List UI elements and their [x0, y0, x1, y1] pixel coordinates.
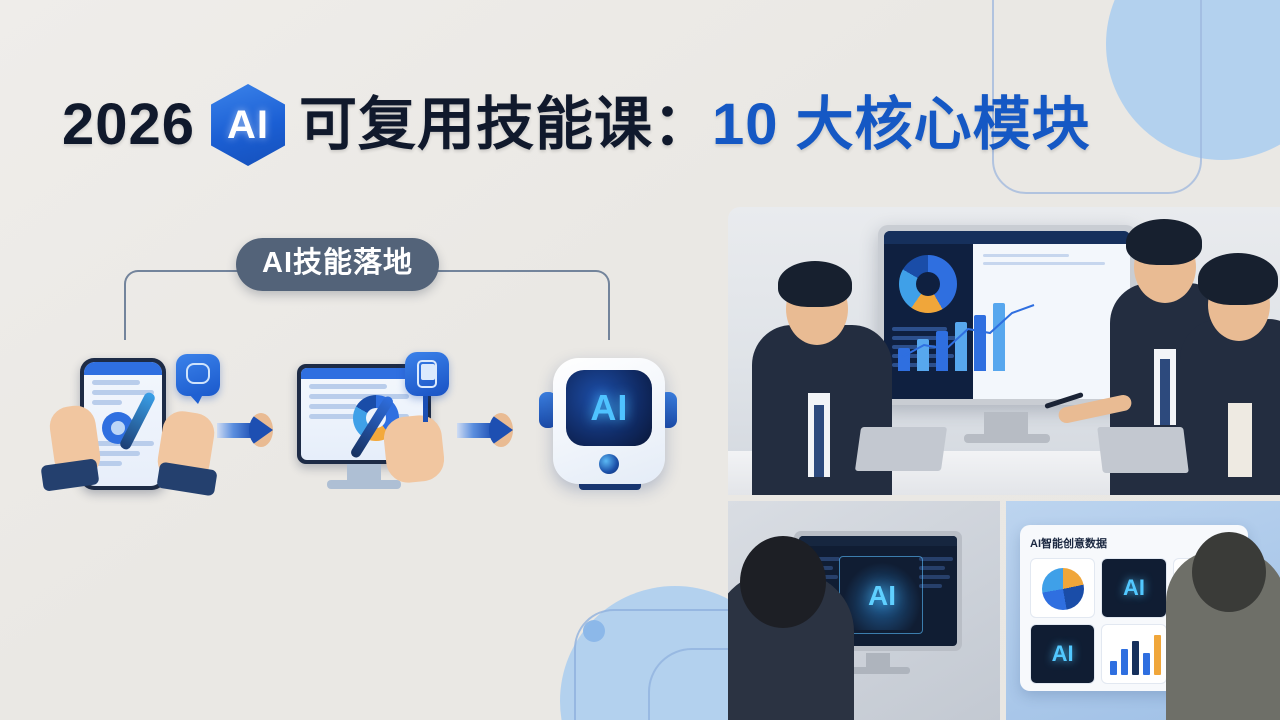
tablet-badge-stem: [423, 394, 428, 422]
board-pie-chart: [1042, 568, 1084, 610]
board-tile-pie: [1030, 558, 1095, 618]
title-year: 2026: [62, 96, 195, 154]
board-viewer-head-silhouette: [1192, 532, 1266, 612]
flow-icon-row: AI: [36, 350, 696, 510]
ai-hexagon-badge-icon: AI: [211, 84, 285, 166]
board-tile-bars: [1101, 624, 1166, 684]
flow-arrow-1-icon: [217, 413, 275, 447]
dashboard-trend-line: [898, 299, 1038, 369]
person-left-tie: [814, 405, 824, 477]
ai-hexagon-badge-label: AI: [227, 105, 269, 145]
ai-robot-icon: AI: [553, 358, 665, 484]
board-bar-chart: [1110, 635, 1161, 675]
person-standing-hair: [1126, 219, 1202, 265]
person-left-hair: [778, 261, 852, 307]
pointing-hand-icon: [381, 413, 446, 485]
laptop-left: [855, 427, 947, 471]
poster-canvas: 2026 AI 可复用技能课： 10 大核心模块 AI技能落地: [0, 0, 1280, 720]
person-right-blouse: [1228, 403, 1252, 477]
robot-lens-icon: [599, 454, 619, 474]
flow-step-2-illustration: [277, 350, 456, 510]
photo-ai-whiteboard-viewer: AI智能创意数据 AI AI: [1006, 501, 1280, 720]
ai-hologram-icon: AI: [843, 562, 921, 630]
board-tile-ai-2: AI: [1030, 624, 1095, 684]
laptop-right: [1097, 427, 1189, 473]
tablet-device-icon: [405, 352, 449, 396]
poster-title: 2026 AI 可复用技能课： 10 大核心模块: [62, 84, 1091, 166]
person-standing-tie: [1160, 359, 1170, 425]
title-middle: 可复用技能课：: [299, 96, 712, 154]
title-highlight: 10 大核心模块: [712, 96, 1091, 154]
flow-arrow-2-icon: [457, 413, 515, 447]
decor-dot-bottom-left: [583, 620, 605, 642]
photo-collage: AI AI智能创意数据 AI AI: [728, 207, 1280, 720]
flow-pill-label: AI技能落地: [262, 247, 413, 279]
person-right-hair: [1198, 253, 1278, 305]
imac-display: [878, 225, 1136, 405]
flow-pill-badge: AI技能落地: [236, 238, 439, 291]
flow-step-3-illustration: AI: [517, 350, 696, 510]
photo-ai-hologram-viewer: AI: [728, 501, 1000, 720]
flow-step-1-illustration: [36, 350, 215, 510]
decor-circle-top-right: [1106, 0, 1280, 160]
board-ai-label-2: AI: [1052, 641, 1074, 667]
board-tile-ai-1: AI: [1101, 558, 1166, 618]
chat-bubble-icon: [176, 354, 220, 396]
board-ai-label-1: AI: [1123, 575, 1145, 601]
hologram-label: AI: [868, 580, 896, 612]
viewer-head-silhouette: [740, 536, 826, 628]
robot-screen-label: AI: [590, 387, 628, 429]
photo-team-meeting: [728, 207, 1280, 495]
monitor-base: [327, 480, 401, 489]
